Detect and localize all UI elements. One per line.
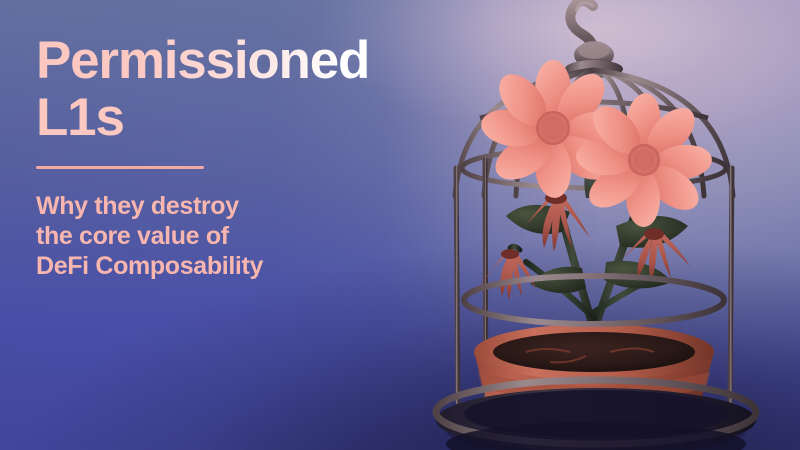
wilted-flower-center <box>518 192 590 252</box>
title-divider <box>36 166 204 169</box>
wilted-flower-left <box>480 246 536 300</box>
slide-canvas: Permissioned L1s Why they destroy the co… <box>0 0 800 450</box>
artwork-birdcage <box>410 0 800 450</box>
text-block: Permissioned L1s Why they destroy the co… <box>36 32 436 281</box>
slide-subtitle: Why they destroy the core value of DeFi … <box>36 191 436 281</box>
slide-title: Permissioned L1s <box>36 32 436 146</box>
